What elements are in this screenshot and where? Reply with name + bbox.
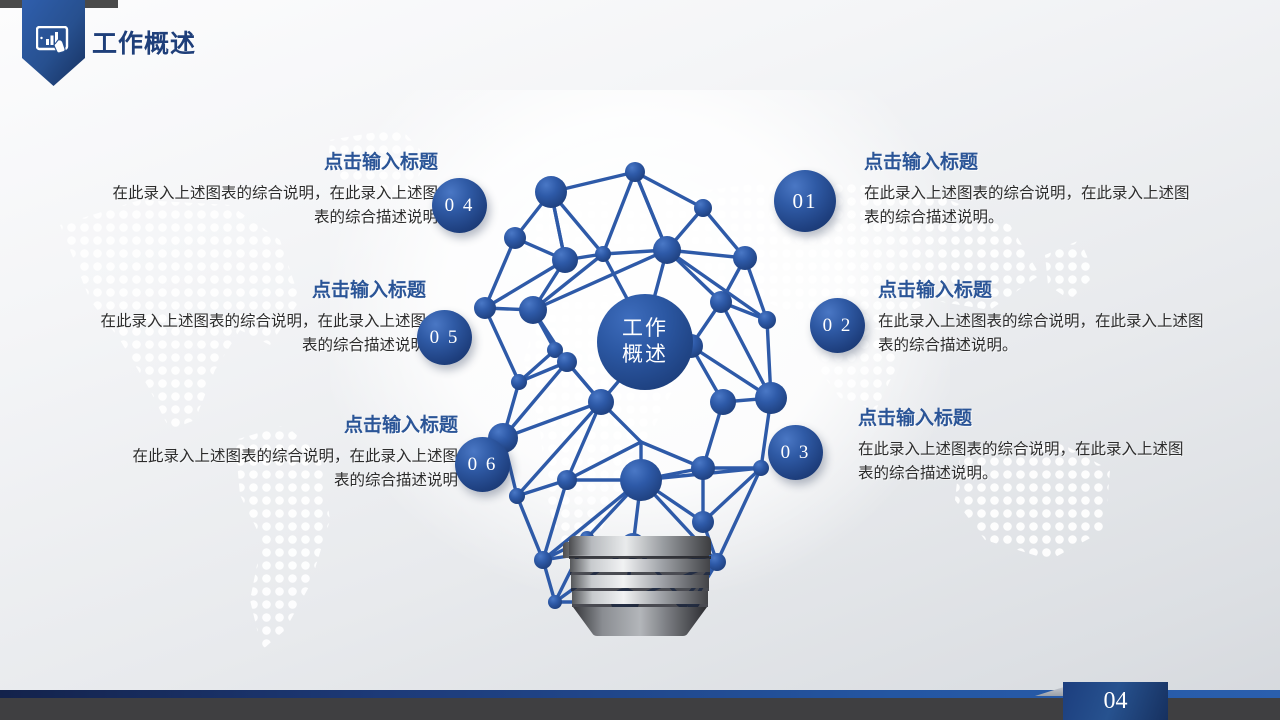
page-number-box: 04 [1063,682,1168,720]
center-label: 工作 概述 [597,316,693,367]
info-title-06: 点击输入标题 [128,415,458,438]
number-bubble-06-label: 0 6 [468,454,498,476]
info-block-02: 点击输入标题 在此录入上述图表的综合说明，在此录入上述图表的综合描述说明。 [878,280,1208,358]
info-block-06: 点击输入标题 在此录入上述图表的综合说明，在此录入上述图表的综合描述说明 [128,415,458,493]
info-body-03: 在此录入上述图表的综合说明，在此录入上述图表的综合描述说明。 [858,438,1188,486]
number-bubble-04[interactable]: 0 4 [432,178,487,233]
info-body-02: 在此录入上述图表的综合说明，在此录入上述图表的综合描述说明。 [878,310,1208,358]
center-label-line-1: 工作 [597,316,693,342]
number-bubble-02[interactable]: 0 2 [810,298,865,353]
info-body-04: 在此录入上述图表的综合说明，在此录入上述图表的综合描述说明 [108,182,438,230]
number-bubble-06[interactable]: 0 6 [455,437,510,492]
info-block-01: 点击输入标题 在此录入上述图表的综合说明，在此录入上述图表的综合描述说明。 [864,152,1194,230]
info-block-03: 点击输入标题 在此录入上述图表的综合说明，在此录入上述图表的综合描述说明。 [858,408,1188,486]
number-bubble-02-label: 0 2 [823,315,853,337]
slide-canvas: 工作概述 [0,0,1280,720]
info-block-05: 点击输入标题 在此录入上述图表的综合说明，在此录入上述图表的综合描述说明 [96,280,426,358]
page-number-label: 04 [1104,688,1128,715]
number-bubble-01-label: 01 [793,189,818,214]
info-body-01: 在此录入上述图表的综合说明，在此录入上述图表的综合描述说明。 [864,182,1194,230]
bulb-metal-cap [560,530,720,640]
info-title-01: 点击输入标题 [864,152,1194,175]
page-title: 工作概述 [92,24,196,60]
number-bubble-03[interactable]: 0 3 [768,425,823,480]
number-bubble-05[interactable]: 0 5 [417,310,472,365]
info-body-06: 在此录入上述图表的综合说明，在此录入上述图表的综合描述说明 [128,445,458,493]
info-title-05: 点击输入标题 [96,280,426,303]
number-bubble-04-label: 0 4 [445,195,475,217]
info-block-04: 点击输入标题 在此录入上述图表的综合说明，在此录入上述图表的综合描述说明 [108,152,438,230]
info-title-04: 点击输入标题 [108,152,438,175]
tablet-chart-touch-icon [36,26,70,54]
info-title-03: 点击输入标题 [858,408,1188,431]
number-bubble-01[interactable]: 01 [774,170,836,232]
center-label-line-2: 概述 [597,342,693,368]
info-title-02: 点击输入标题 [878,280,1208,303]
info-body-05: 在此录入上述图表的综合说明，在此录入上述图表的综合描述说明 [96,310,426,358]
number-bubble-05-label: 0 5 [430,327,460,349]
number-bubble-03-label: 0 3 [781,442,811,464]
